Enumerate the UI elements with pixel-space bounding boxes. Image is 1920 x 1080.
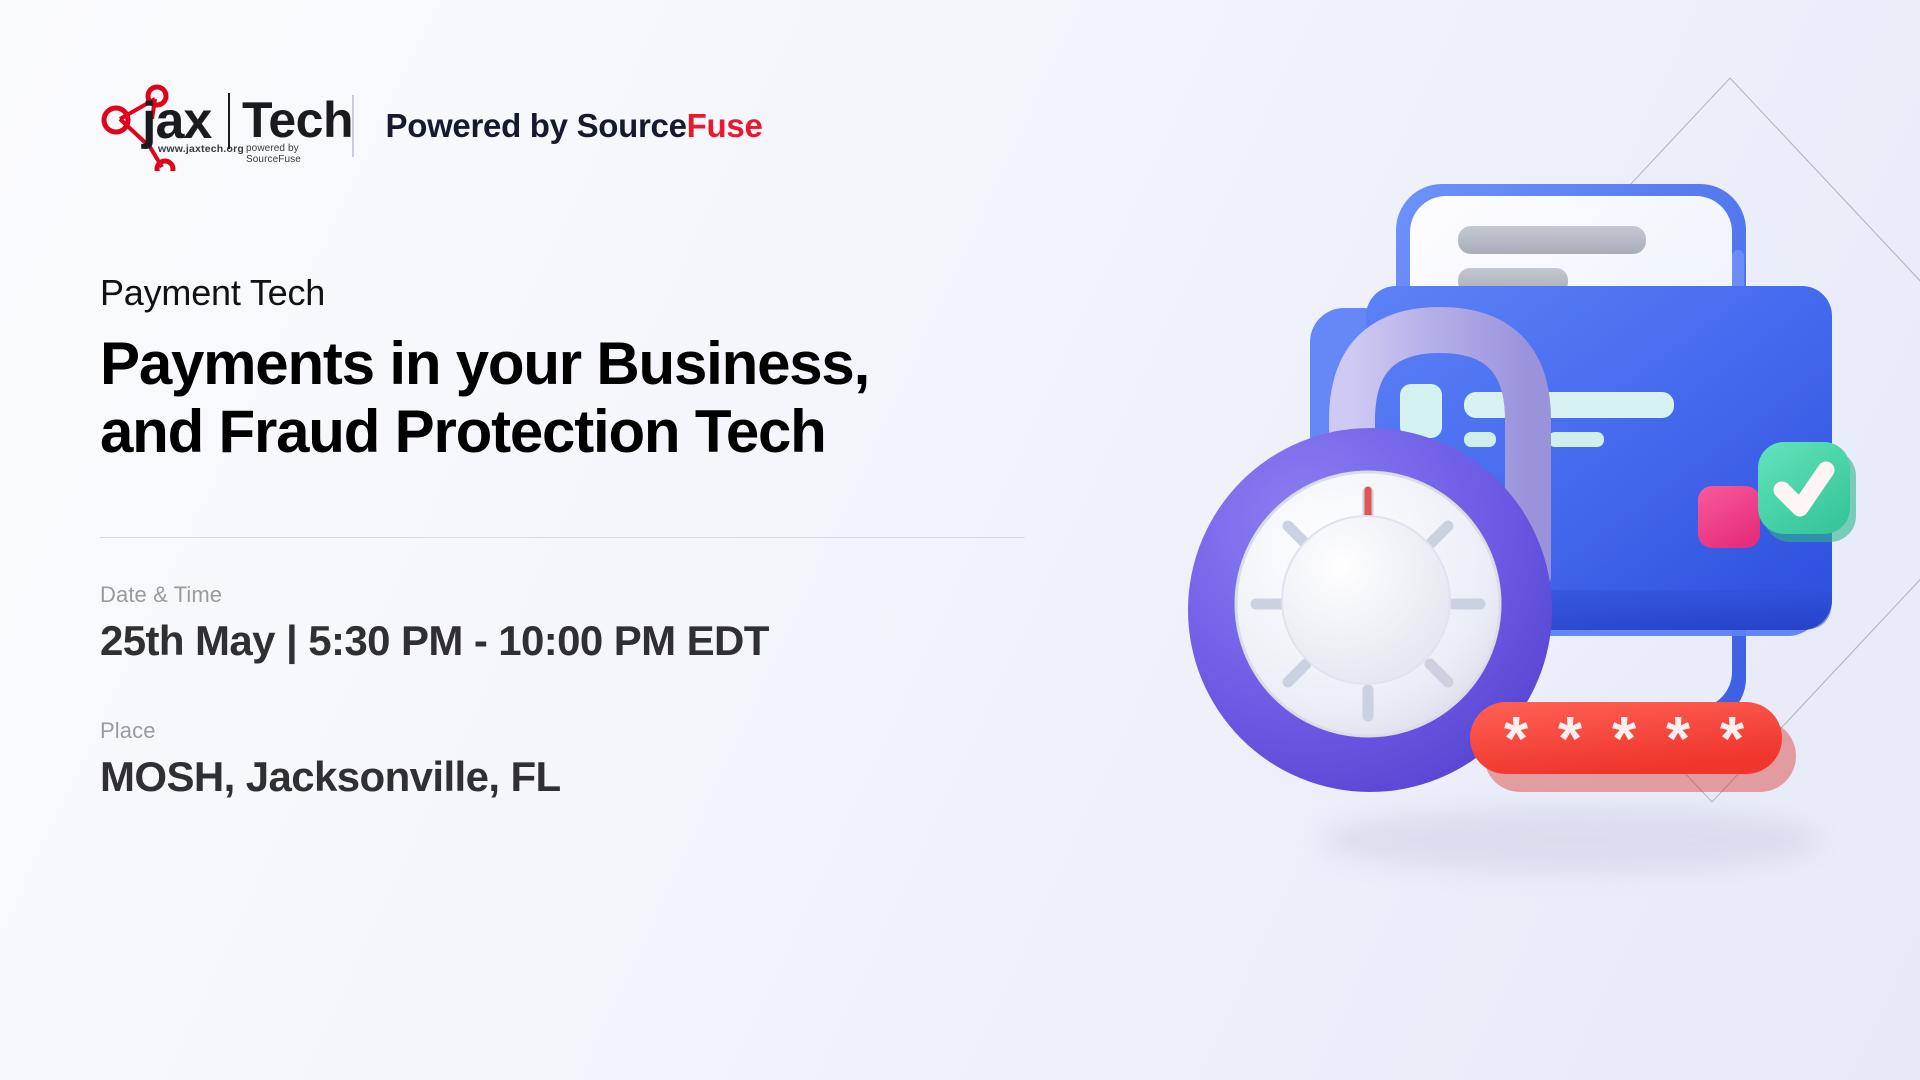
card-dash-3 [1548,432,1604,447]
datetime-block: Date & Time 25th May | 5:30 PM - 10:00 P… [100,582,769,665]
powered-accent-text: Fuse [687,107,763,144]
logo-tech-subtitle: powered by SourceFuse [246,143,330,165]
place-label: Place [100,718,561,744]
brand-lockup: jax www.jaxtech.org Tech powered by Sour… [100,86,763,166]
card-number-bar [1464,392,1674,418]
event-title-line-1: Payments in your Business, [100,330,1060,398]
logo-jax-text: jax [142,95,211,147]
place-value: MOSH, Jacksonville, FL [100,753,561,801]
content-column: jax www.jaxtech.org Tech powered by Sour… [100,0,1060,1080]
payment-security-illustration: * * * * * [1100,0,1920,1080]
place-block: Place MOSH, Jacksonville, FL [100,718,561,801]
illustration-shadow [1320,806,1820,874]
svg-text:*: * [1666,705,1691,774]
svg-text:*: * [1720,705,1745,774]
svg-text:*: * [1558,705,1583,774]
event-banner: jax www.jaxtech.org Tech powered by Sour… [0,0,1920,1080]
powered-by-sourcefuse: Powered by SourceFuse [386,107,763,145]
svg-text:*: * [1504,705,1529,774]
powered-prefix-text: Powered by Source [386,107,687,144]
datetime-value: 25th May | 5:30 PM - 10:00 PM EDT [100,617,769,665]
logo-url-text: www.jaxtech.org [158,143,244,155]
card-pink-chip [1698,486,1760,548]
logo-divider [228,93,230,149]
event-category: Payment Tech [100,272,325,314]
horizontal-divider [100,537,1025,538]
event-title: Payments in your Business, and Fraud Pro… [100,330,1060,467]
svg-text:*: * [1612,705,1637,774]
event-title-line-2: and Fraud Protection Tech [100,398,1060,466]
datetime-label: Date & Time [100,582,769,608]
logo-tech-text: Tech [242,95,353,145]
check-badge-icon [1758,442,1856,542]
password-field-pill: * * * * * [1470,702,1796,792]
card-chip [1400,384,1442,438]
jaxtech-logo: jax www.jaxtech.org Tech powered by Sour… [100,81,330,171]
screen-bar-long [1458,226,1646,254]
card-dash-1 [1464,432,1496,447]
